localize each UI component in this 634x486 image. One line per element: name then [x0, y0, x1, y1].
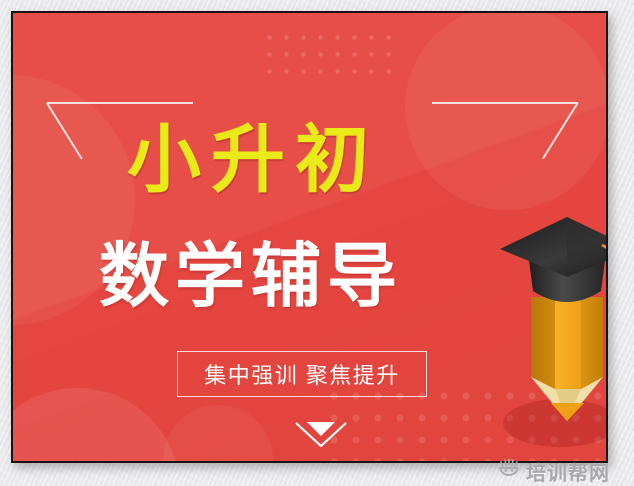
- sun-smiley-icon: [498, 459, 520, 484]
- title-sub: 数学辅导: [13, 241, 483, 311]
- watermark-text: 培训帮网: [526, 457, 610, 486]
- pencil-with-graduation-cap-icon: [489, 209, 606, 441]
- tagline-box: 集中强训 聚焦提升: [177, 351, 427, 397]
- dot-pattern-top-right: [261, 29, 403, 84]
- banner-frame: 小升初 数学辅导 集中强训 聚焦提升: [11, 11, 608, 463]
- tagline-text: 集中强训 聚焦提升: [204, 358, 400, 390]
- corner-line-right-horizontal: [432, 102, 578, 104]
- bg-circle-bottom-left: [13, 388, 180, 461]
- corner-line-left-horizontal: [47, 102, 193, 104]
- chevron-down-marker: [292, 417, 350, 447]
- bg-circle-middle: [163, 405, 273, 461]
- watermark: 培训帮网: [498, 457, 610, 486]
- page-background: 小升初 数学辅导 集中强训 聚焦提升: [0, 0, 634, 486]
- banner: 小升初 数学辅导 集中强训 聚焦提升: [13, 13, 606, 461]
- title-main: 小升初: [13, 123, 483, 197]
